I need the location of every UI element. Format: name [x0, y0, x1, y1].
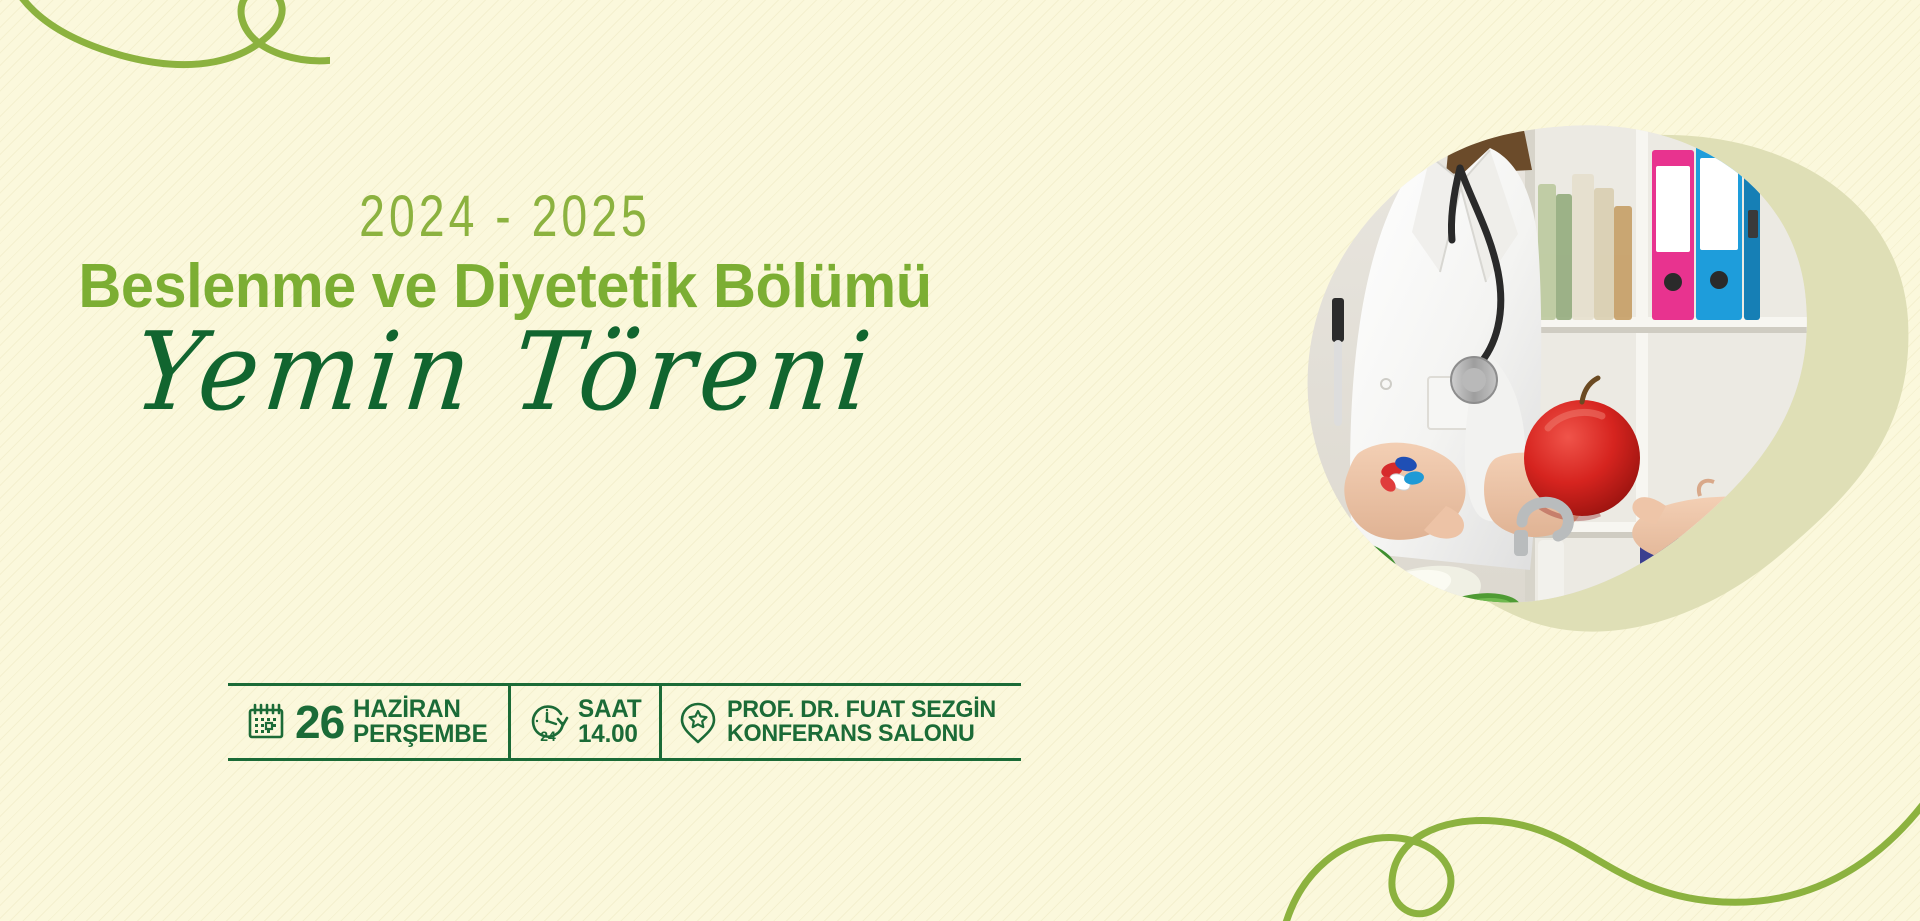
- photo-area: [1260, 100, 1920, 660]
- event-month: HAZİRAN: [353, 697, 488, 722]
- dietitian-photo: [1300, 122, 1820, 622]
- calendar-icon: [246, 702, 286, 742]
- academic-year: 2024 - 2025: [101, 188, 909, 246]
- event-weekday: PERŞEMBE: [353, 722, 488, 747]
- event-time-text: SAAT 14.00: [578, 697, 643, 747]
- event-day: 26: [295, 699, 344, 745]
- curly-line-icon: [1280, 721, 1920, 921]
- event-banner: 2024 - 2025 Beslenme ve Diyetetik Bölümü…: [0, 0, 1920, 921]
- event-venue-text: PROF. DR. FUAT SEZGİN KONFERANS SALONU: [727, 698, 1004, 746]
- info-cell-venue: PROF. DR. FUAT SEZGİN KONFERANS SALONU: [659, 686, 1020, 758]
- event-date-text: HAZİRAN PERŞEMBE: [353, 697, 492, 747]
- svg-text:24: 24: [540, 728, 556, 743]
- venue-line-1: PROF. DR. FUAT SEZGİN: [727, 698, 996, 722]
- info-cell-time: 24 SAAT 14.00: [508, 686, 659, 758]
- clock-24-icon: 24: [527, 701, 569, 743]
- time-value: 14.00: [578, 722, 641, 747]
- hero-text-block: 2024 - 2025 Beslenme ve Diyetetik Bölümü…: [0, 188, 1010, 434]
- ceremony-title: Yemin Töreni: [24, 313, 986, 434]
- time-label: SAAT: [578, 697, 641, 722]
- curly-line-icon: [0, 0, 330, 130]
- event-info-bar: 26 HAZİRAN PERŞEMBE 24: [228, 683, 1021, 761]
- location-pin-star-icon: [678, 700, 718, 744]
- venue-line-2: KONFERANS SALONU: [727, 722, 996, 746]
- info-cell-date: 26 HAZİRAN PERŞEMBE: [228, 686, 508, 758]
